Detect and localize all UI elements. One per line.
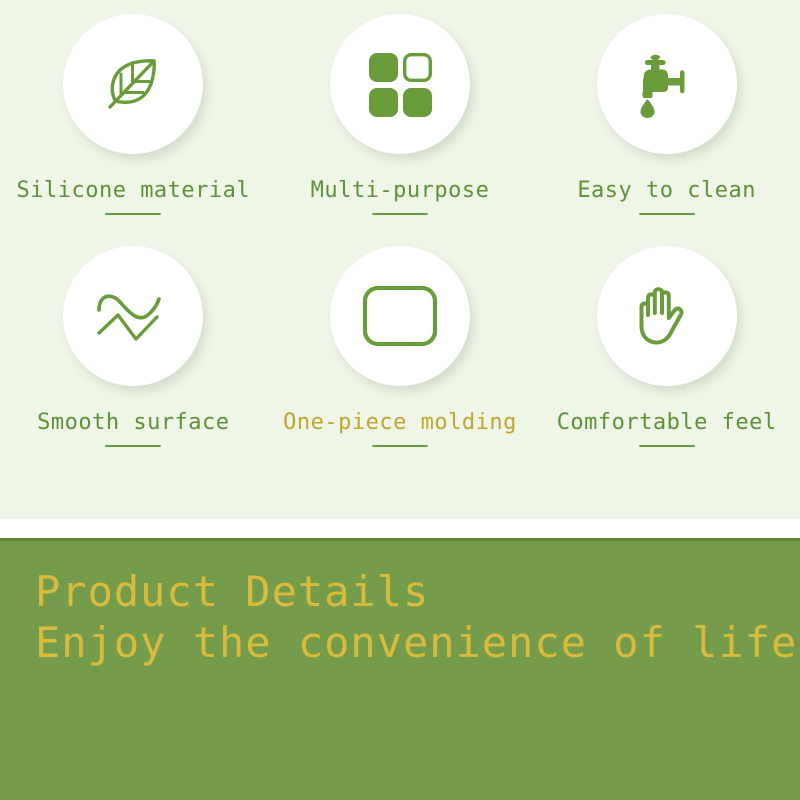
feature-item-multi-purpose[interactable]: Multi-purpose <box>267 14 534 246</box>
icon-bubble <box>597 14 737 154</box>
features-panel: Silicone material Multi-purpose <box>0 0 800 519</box>
feature-item-smooth-surface[interactable]: Smooth surface <box>0 246 267 478</box>
feature-label: Comfortable feel <box>557 412 777 434</box>
rounded-rectangle-outline-icon <box>362 285 438 347</box>
leaf-icon <box>96 47 170 121</box>
feature-label: One-piece molding <box>283 412 517 434</box>
label-underline <box>639 445 695 447</box>
feature-item-one-piece-molding[interactable]: One-piece molding <box>267 246 534 478</box>
feature-item-silicone-material[interactable]: Silicone material <box>0 14 267 246</box>
feature-label: Multi-purpose <box>311 180 490 202</box>
section-separator-gap <box>0 519 800 538</box>
four-squares-grid-icon <box>363 47 437 121</box>
faucet-water-drop-icon <box>630 47 704 121</box>
product-feature-page: Silicone material Multi-purpose <box>0 0 800 800</box>
product-details-banner: Product Details Enjoy the convenience of… <box>0 541 800 800</box>
label-underline <box>105 213 161 215</box>
banner-heading: Product Details <box>35 569 797 614</box>
icon-bubble <box>63 246 203 386</box>
banner-text-block: Product Details Enjoy the convenience of… <box>35 569 797 666</box>
label-underline <box>105 445 161 447</box>
smooth-wave-zigzag-icon <box>94 277 172 355</box>
feature-label: Silicone material <box>16 180 250 202</box>
open-hand-icon <box>630 277 704 355</box>
feature-label: Easy to clean <box>577 180 756 202</box>
banner-subheading: Enjoy the convenience of life <box>35 620 797 665</box>
feature-item-easy-to-clean[interactable]: Easy to clean <box>533 14 800 246</box>
feature-grid: Silicone material Multi-purpose <box>0 0 800 478</box>
feature-label: Smooth surface <box>37 412 229 434</box>
label-underline <box>372 213 428 215</box>
feature-item-comfortable-feel[interactable]: Comfortable feel <box>533 246 800 478</box>
label-underline <box>639 213 695 215</box>
icon-bubble <box>330 246 470 386</box>
icon-bubble <box>330 14 470 154</box>
icon-bubble <box>597 246 737 386</box>
label-underline <box>372 445 428 447</box>
icon-bubble <box>63 14 203 154</box>
